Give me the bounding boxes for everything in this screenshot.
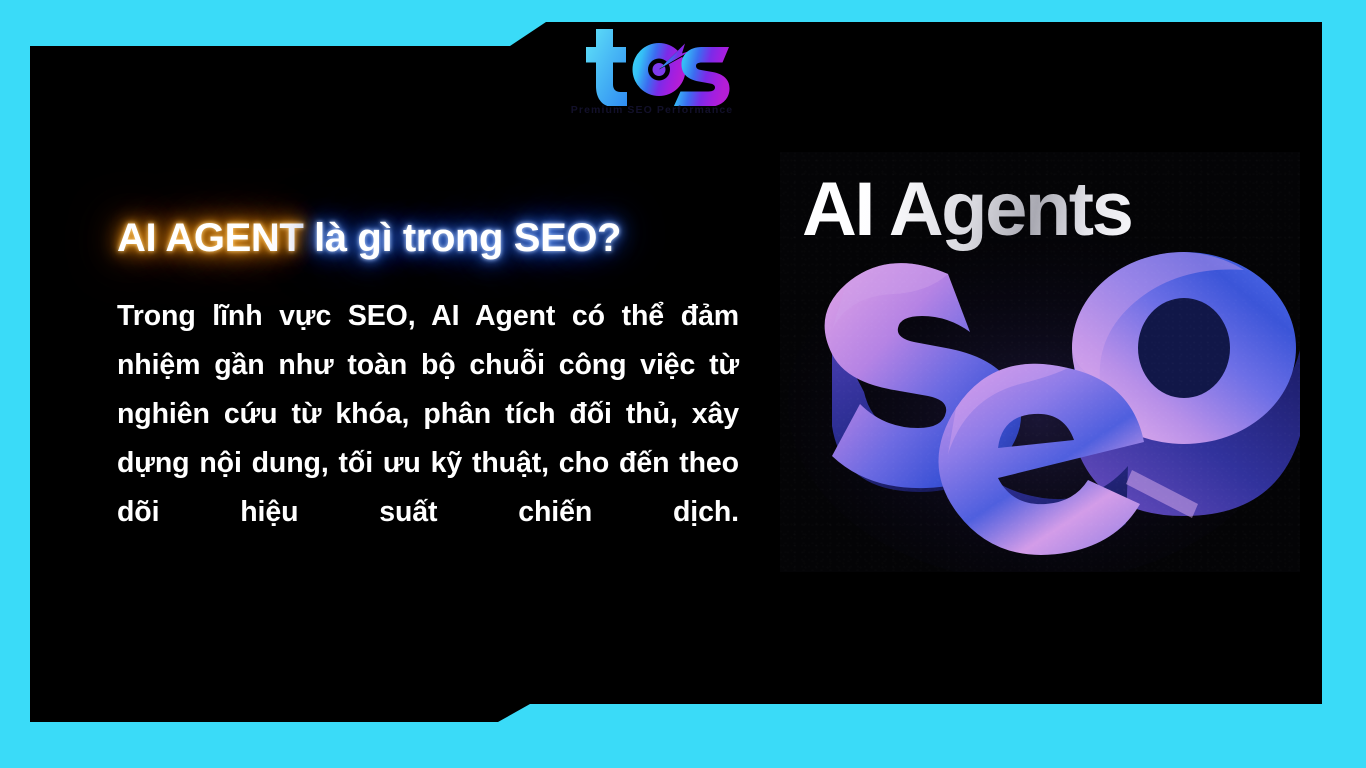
title-highlight: AI AGENT (117, 216, 303, 260)
logo-tagline: Premium SEO Performance (567, 104, 737, 116)
hero-artwork: AI Agents (780, 152, 1300, 572)
body-paragraph: Trong lĩnh vực SEO, AI Agent có thể đảm … (117, 292, 739, 586)
title-rest: là gì trong SEO? (303, 216, 621, 260)
brand-logo[interactable]: Premium SEO Performance (567, 26, 737, 131)
slide-canvas: Premium SEO Performance AI AGENT là gì t… (0, 0, 1366, 768)
page-title: AI AGENT là gì trong SEO? (117, 216, 621, 261)
hero-wordmark: AI Agents (802, 166, 1131, 253)
tos-logo-icon (570, 26, 735, 106)
